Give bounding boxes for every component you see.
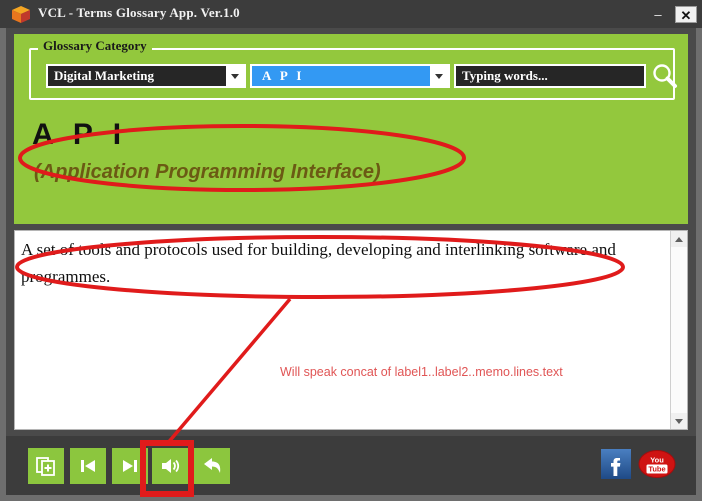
term-title: A P I [32,118,127,152]
glossary-category-label: Glossary Category [38,38,152,54]
undo-arrow-icon [200,455,224,477]
chevron-down-icon[interactable] [226,66,244,86]
add-record-button[interactable] [28,448,64,484]
previous-button[interactable] [70,448,106,484]
scrollbar-track[interactable] [671,247,687,413]
term-subtitle: (Application Programming Interface) [34,161,381,184]
youtube-label-bottom: Tube [648,465,665,474]
minimize-button[interactable]: – [647,6,669,23]
definition-memo[interactable]: A set of tools and protocols used for bu… [14,230,688,430]
memo-scrollbar[interactable] [670,231,687,429]
category-combo[interactable]: Digital Marketing [46,64,246,88]
search-input[interactable]: Typing words... [454,64,646,88]
youtube-link[interactable]: You Tube [638,449,676,479]
bottom-toolbar: You Tube [6,436,696,495]
chevron-down-icon[interactable] [430,66,448,86]
term-combo[interactable]: A P I [250,64,450,88]
definition-text: A set of tools and protocols used for bu… [21,236,621,290]
speak-button[interactable] [152,448,188,484]
scroll-down-icon[interactable] [671,413,687,429]
speak-annotation-note: Will speak concat of label1..label2..mem… [280,365,563,379]
scroll-up-icon[interactable] [671,231,687,247]
title-bar: VCL - Terms Glossary App. Ver.1.0 – ✕ [0,0,702,28]
glossary-panel: Glossary Category Digital Marketing A P … [14,34,688,224]
speaker-volume-icon [159,455,181,477]
skip-forward-icon [120,456,140,476]
close-button[interactable]: ✕ [675,6,697,23]
term-combo-value: A P I [256,67,308,85]
next-button[interactable] [112,448,148,484]
facebook-link[interactable] [601,449,631,479]
client-area: Glossary Category Digital Marketing A P … [6,28,696,495]
skip-back-icon [78,456,98,476]
app-window: VCL - Terms Glossary App. Ver.1.0 – ✕ Gl… [0,0,702,501]
window-title: VCL - Terms Glossary App. Ver.1.0 [38,5,240,21]
youtube-label-top: You [650,456,664,465]
add-page-icon [35,455,57,477]
category-combo-value: Digital Marketing [48,68,154,84]
box-3d-icon [12,6,30,23]
undo-button[interactable] [194,448,230,484]
magnifier-icon[interactable] [650,62,680,90]
